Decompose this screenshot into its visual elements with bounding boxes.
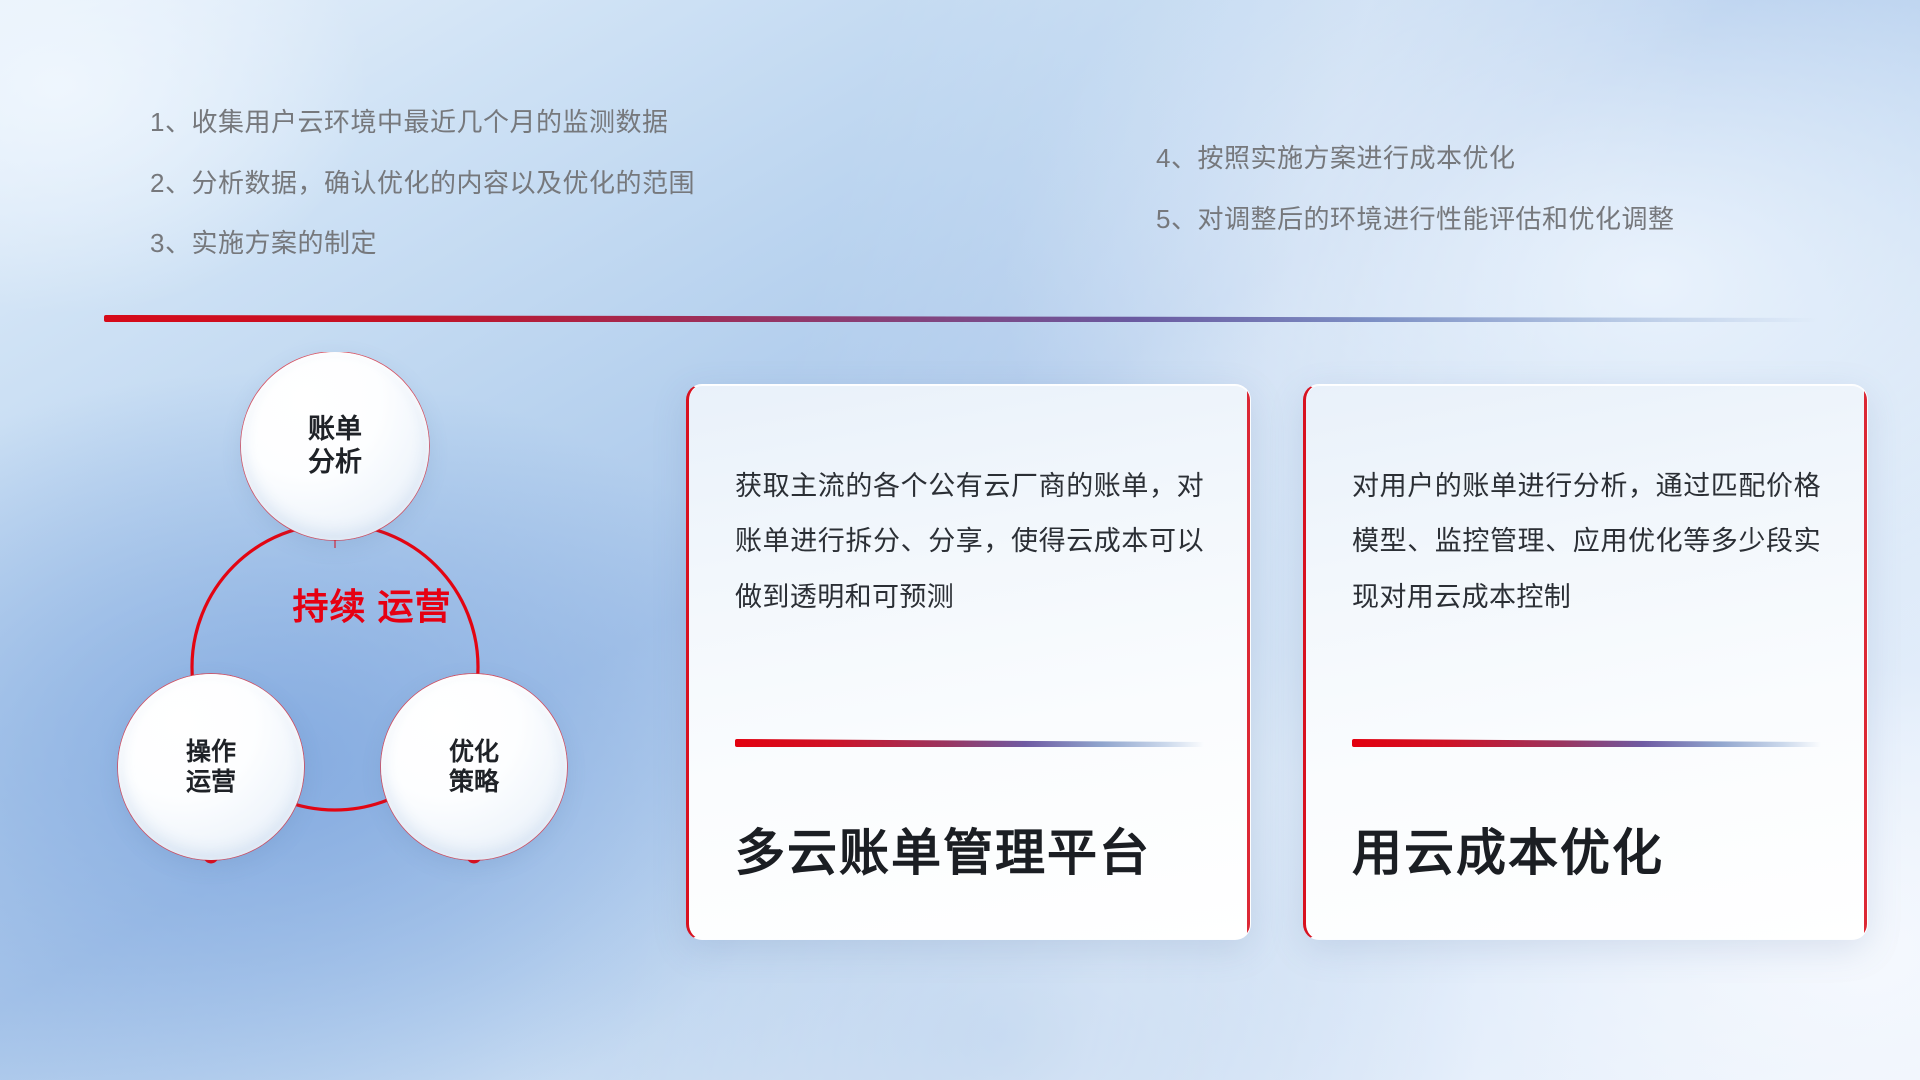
card-divider (1352, 739, 1821, 747)
step-item: 5、对调整后的环境进行性能评估和优化调整 (1156, 203, 1810, 236)
venn-node-operations[interactable]: 操作 运营 (118, 674, 304, 860)
venn-node-label-line1: 操作 (186, 737, 236, 768)
cards-section: 获取主流的各个公有云厂商的账单，对账单进行拆分、分享，使得云成本可以做到透明和可… (686, 384, 1868, 940)
card-divider (735, 739, 1204, 747)
venn-node-label-line2: 策略 (449, 767, 499, 798)
venn-node-label-line1: 优化 (449, 737, 499, 768)
venn-node-billing-analysis[interactable]: 账单 分析 (241, 352, 429, 540)
venn-center-line1: 持续 (292, 586, 366, 627)
venn-diagram: 账单 分析 操作 运营 优化 策略 持续 运营 (96, 352, 656, 952)
venn-center-label: 持续 运营 (277, 542, 467, 672)
card-title: 多云账单管理平台 (735, 826, 1204, 939)
venn-node-label-line1: 账单 (308, 413, 362, 446)
venn-node-label-line2: 分析 (308, 446, 362, 479)
step-item: 2、分析数据，确认优化的内容以及优化的范围 (150, 167, 1010, 200)
card-body-text: 获取主流的各个公有云厂商的账单，对账单进行拆分、分享，使得云成本可以做到透明和可… (735, 459, 1204, 711)
step-item: 1、收集用户云环境中最近几个月的监测数据 (150, 106, 1010, 139)
step-item: 4、按照实施方案进行成本优化 (1156, 142, 1810, 175)
step-item: 3、实施方案的制定 (150, 227, 1010, 260)
steps-column-right: 4、按照实施方案进行成本优化 5、对调整后的环境进行性能评估和优化调整 (1010, 106, 1810, 260)
card-body-text: 对用户的账单进行分析，通过匹配价格模型、监控管理、应用优化等多少段实现对用云成本… (1352, 459, 1821, 711)
venn-center-line2: 运营 (378, 586, 452, 627)
venn-node-optimization-strategy[interactable]: 优化 策略 (381, 674, 567, 860)
card-cloud-cost-optimization[interactable]: 对用户的账单进行分析，通过匹配价格模型、监控管理、应用优化等多少段实现对用云成本… (1303, 384, 1868, 940)
card-title: 用云成本优化 (1352, 826, 1821, 939)
steps-column-left: 1、收集用户云环境中最近几个月的监测数据 2、分析数据，确认优化的内容以及优化的… (150, 106, 1010, 260)
steps-section: 1、收集用户云环境中最近几个月的监测数据 2、分析数据，确认优化的内容以及优化的… (150, 106, 1810, 260)
venn-node-label-line2: 运营 (186, 767, 236, 798)
card-multicloud-billing[interactable]: 获取主流的各个公有云厂商的账单，对账单进行拆分、分享，使得云成本可以做到透明和可… (686, 384, 1251, 940)
